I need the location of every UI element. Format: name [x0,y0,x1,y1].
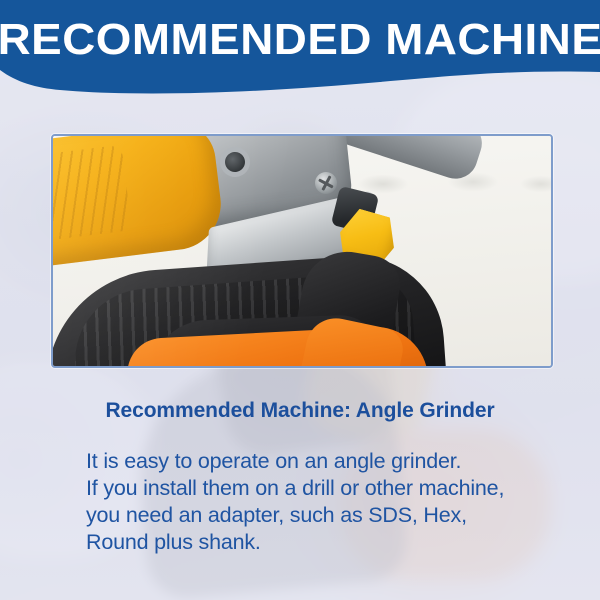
grinder-vent-lines [51,145,132,242]
header-banner: RECOMMENDED MACHINE [0,0,600,110]
description-text: It is easy to operate on an angle grinde… [86,448,526,556]
description-line: Round plus shank. [86,529,526,556]
guard-clamp-screw [315,172,337,194]
page-title: RECOMMENDED MACHINE [0,0,600,62]
description-line: you need an adapter, such as SDS, Hex, [86,502,526,529]
description-line: It is easy to operate on an angle grinde… [86,448,526,475]
infographic-page: RECOMMENDED MACHINE Recommended Machine:… [0,0,600,600]
recommendation-caption: Recommended Machine: Angle Grinder [0,398,600,424]
description-line: If you install them on a drill or other … [86,475,526,502]
product-photo-scene [53,136,551,366]
product-photo [51,134,553,368]
